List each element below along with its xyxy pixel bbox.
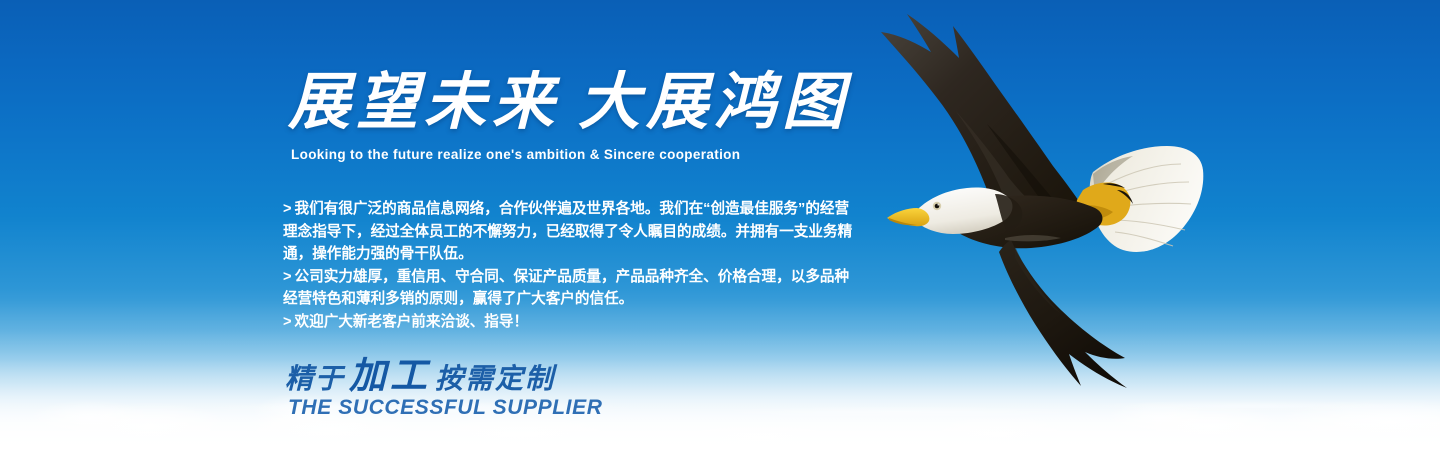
slogan-part-1: 精于 [285, 364, 345, 395]
body-copy: >我们有很广泛的商品信息网络，合作伙伴遍及世界各地。我们在“创造最佳服务”的经营… [283, 198, 863, 334]
bullet-marker: > [283, 314, 292, 330]
slogan-chinese: 精于加工按需定制 [285, 358, 555, 395]
paragraph-1: >我们有很广泛的商品信息网络，合作伙伴遍及世界各地。我们在“创造最佳服务”的经营… [283, 198, 863, 266]
subtitle: Looking to the future realize one's ambi… [291, 147, 740, 162]
paragraph-3: >欢迎广大新老客户前来洽谈、指导！ [283, 311, 863, 334]
slogan-part-3: 按需定制 [435, 364, 555, 395]
headline-right: 大展鸿图 [578, 69, 850, 137]
paragraph-2: >公司实力雄厚，重信用、守合同、保证产品质量，产品品种齐全、价格合理，以多品种经… [283, 266, 863, 311]
bullet-marker: > [283, 269, 292, 285]
page-title: 展望未来大展鸿图 [288, 72, 850, 134]
bullet-marker: > [283, 201, 292, 217]
paragraph-3-text: 欢迎广大新老客户前来洽谈、指导！ [295, 314, 529, 330]
slogan-part-2: 加工 [349, 356, 431, 397]
headline-left: 展望未来 [288, 69, 560, 137]
paragraph-2-text: 公司实力雄厚，重信用、守合同、保证产品质量，产品品种齐全、价格合理，以多品种经营… [283, 269, 849, 308]
banner-content: 展望未来大展鸿图 Looking to the future realize o… [283, 0, 883, 450]
paragraph-1-text: 我们有很广泛的商品信息网络，合作伙伴遍及世界各地。我们在“创造最佳服务”的经营理… [283, 201, 852, 262]
slogan-english: THE SUCCESSFUL SUPPLIER [288, 396, 602, 420]
promo-banner: 展望未来大展鸿图 Looking to the future realize o… [0, 0, 1440, 450]
eagle-image [845, 0, 1265, 394]
